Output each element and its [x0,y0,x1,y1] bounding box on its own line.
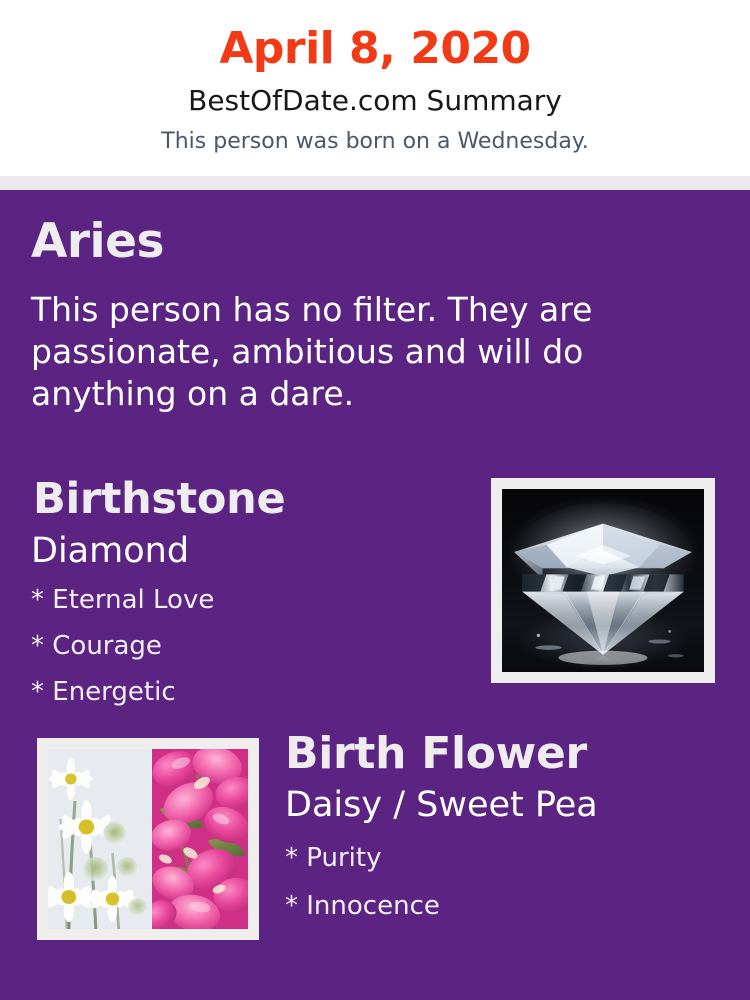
birth-flower-trait-list: * Purity * Innocence [285,845,705,941]
diamond-icon [502,489,704,672]
summary-card: April 8, 2020 BestOfDate.com Summary Thi… [0,0,750,1000]
birth-flower-image-frame [37,738,259,940]
header-divider [0,176,750,190]
birthstone-trait-list: * Eternal Love * Courage * Energetic [31,587,451,725]
list-item: * Courage [31,633,451,659]
list-item: * Purity [285,845,705,871]
birth-day-note: This person was born on a Wednesday. [0,130,750,154]
flower-photo [48,749,248,929]
birthstone-name: Diamond [31,534,189,569]
birthstone-heading: Birthstone [33,478,285,521]
sweet-pea-flowers-icon [152,749,248,929]
daisy-flowers-icon [48,749,152,929]
diamond-photo [502,489,704,672]
card-header: April 8, 2020 BestOfDate.com Summary Thi… [0,0,750,176]
site-summary-label: BestOfDate.com Summary [0,86,750,117]
birthstone-image-frame [491,478,715,683]
birth-flower-name: Daisy / Sweet Pea [285,788,598,823]
daisy-photo-half [48,749,152,929]
list-item: * Innocence [285,893,705,919]
zodiac-description: This person has no filter. They are pass… [31,289,651,416]
details-panel: Aries This person has no filter. They ar… [0,190,750,1000]
page-title: April 8, 2020 [0,26,750,72]
sweet-pea-photo-half [152,749,248,929]
list-item: * Eternal Love [31,587,451,613]
list-item: * Energetic [31,679,451,705]
zodiac-sign-heading: Aries [31,218,164,265]
birth-flower-heading: Birth Flower [285,732,587,776]
